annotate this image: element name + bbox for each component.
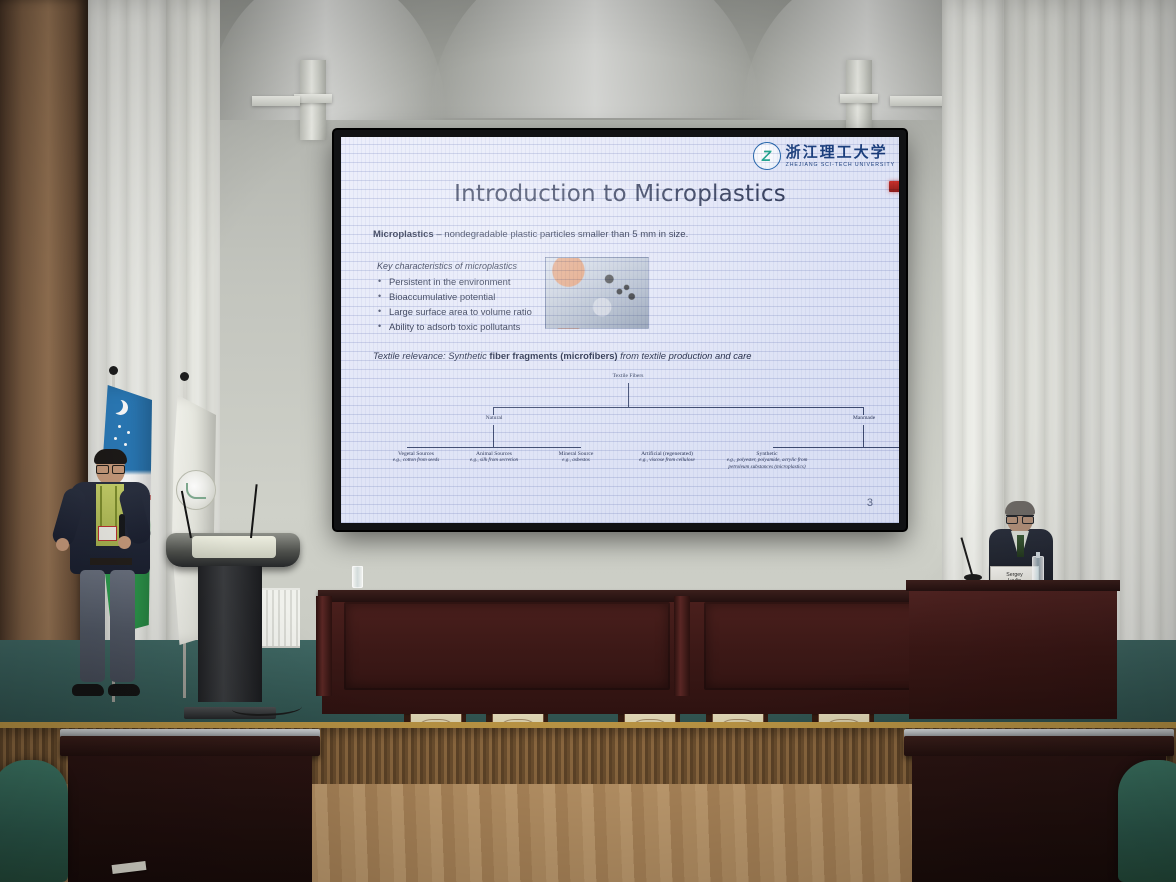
presenter-shoe-right — [108, 684, 140, 696]
lectern-reading-surface — [192, 536, 276, 558]
audience-desk-top — [60, 736, 320, 756]
seated-participant-tie — [1017, 535, 1024, 557]
tree-branch-natural: Natural — [463, 415, 525, 421]
presenter-leg-left — [80, 570, 105, 682]
standing-presenter — [62, 452, 158, 710]
tree-leaf-artificial: Artificial (regenerated) e.g., viscose f… — [619, 451, 715, 464]
presenter-hair — [94, 449, 127, 464]
definition-text: – nondegradable plastic particles smalle… — [434, 229, 689, 240]
tree-branch-stem-manmade — [863, 407, 864, 415]
slide-definition: Microplastics – nondegradable plastic pa… — [373, 229, 869, 241]
flag-finial-right-icon — [180, 372, 189, 381]
textile-part2: from textile production and care — [618, 350, 752, 361]
list-item: Bioaccumulative potential — [377, 290, 532, 305]
tree-manmade-bar — [773, 447, 899, 448]
presenter-belt — [90, 558, 132, 565]
presenter-shoe-left — [72, 684, 104, 696]
audience-desk-left — [60, 736, 320, 882]
led-presentation-screen[interactable]: Z 浙江理工大学 ZHEJIANG SCI-TECH UNIVERSITY In… — [334, 130, 906, 530]
side-table-front — [909, 591, 1117, 719]
tree-root-stem — [628, 383, 629, 407]
conference-badge — [98, 526, 117, 541]
tree-branch-stem-natural — [493, 407, 494, 415]
tree-leaf-mineral: Mineral Source e.g., asbestos — [537, 451, 615, 464]
tree-level1-bar — [493, 407, 863, 408]
flag-star-icon — [124, 443, 127, 446]
tree-natural-bar — [407, 447, 581, 448]
logo-emblem-icon: Z — [753, 142, 781, 170]
ceiling-arch-center — [430, 0, 760, 118]
textile-fiber-tree-diagram: Textile Fibers Natural Manmade — [371, 373, 883, 493]
presenter-right-hand — [118, 536, 131, 549]
presidium-panel — [344, 602, 670, 690]
cornice-right — [890, 96, 950, 106]
logo-chinese-name: 浙江理工大学 — [786, 143, 888, 161]
characteristics-list: Persistent in the environment Bioaccumul… — [377, 275, 532, 334]
slide-title: Introduction to Microplastics — [341, 181, 899, 207]
tree-natural-stem — [493, 425, 494, 447]
side-table — [906, 580, 1120, 725]
slide-page-number: 3 — [867, 497, 873, 509]
logo-z-glyph: Z — [760, 149, 772, 164]
presenter-leg-right — [110, 570, 135, 682]
university-logo: Z 浙江理工大学 ZHEJIANG SCI-TECH UNIVERSITY — [753, 142, 895, 170]
presenter-left-hand — [56, 538, 69, 551]
seated-participant-hair — [1005, 501, 1035, 515]
tree-branch-manmade: Manmade — [833, 415, 895, 421]
audience-desk-front — [68, 756, 312, 882]
lectern[interactable] — [178, 533, 288, 719]
flag-star-icon — [127, 431, 130, 434]
tree-leaf-animal: Animal Sources e.g., silk from secretion — [455, 451, 533, 464]
audience-chair-left — [0, 760, 68, 882]
cornice-left — [252, 96, 300, 106]
pier-capital-right — [840, 94, 878, 103]
conference-hall-scene: Z 浙江理工大学 ZHEJIANG SCI-TECH UNIVERSITY In… — [0, 0, 1176, 882]
tree-root: Textile Fibers — [583, 373, 673, 379]
glasses-icon — [1006, 515, 1034, 522]
audience-chair-right — [1118, 760, 1176, 882]
audience-desk-top — [904, 736, 1174, 756]
tree-leaf-synthetic: Synthetic e.g., polyester, polyamide, ac… — [721, 451, 813, 471]
textile-lead: Textile relevance — [373, 350, 443, 361]
list-item: Large surface area to volume ratio — [377, 305, 532, 320]
textile-relevance-line: Textile relevance: Synthetic fiber fragm… — [373, 350, 875, 361]
flag-star-icon — [118, 425, 121, 428]
flag-finial-left-icon — [109, 366, 118, 375]
textile-part1: : Synthetic — [443, 350, 489, 361]
crescent-icon — [108, 398, 123, 413]
presenter-legs — [78, 570, 140, 688]
list-item: Persistent in the environment — [377, 275, 532, 290]
microplastics-lab-photo — [545, 257, 649, 329]
definition-term: Microplastics — [373, 229, 434, 240]
glasses-icon — [95, 465, 126, 472]
side-table-top — [906, 580, 1120, 591]
lectern-column — [198, 566, 262, 702]
slide-surface: Z 浙江理工大学 ZHEJIANG SCI-TECH UNIVERSITY In… — [341, 137, 899, 523]
presidium-pilaster — [316, 596, 332, 696]
list-item: Ability to adsorb toxic pollutants — [377, 320, 532, 335]
presidium-pilaster — [674, 596, 690, 696]
tree-manmade-stem — [863, 425, 864, 447]
water-glass — [352, 566, 363, 588]
lanyard — [100, 486, 117, 528]
tree-leaf-vegetal: Vegetal Sources e.g., cotton from seeds — [377, 451, 455, 464]
logo-english-name: ZHEJIANG SCI-TECH UNIVERSITY — [786, 162, 895, 168]
textile-bold: fiber fragments (microfibers) — [489, 350, 617, 361]
flag-star-icon — [114, 437, 117, 440]
characteristics-heading: Key characteristics of microplastics — [377, 261, 517, 271]
